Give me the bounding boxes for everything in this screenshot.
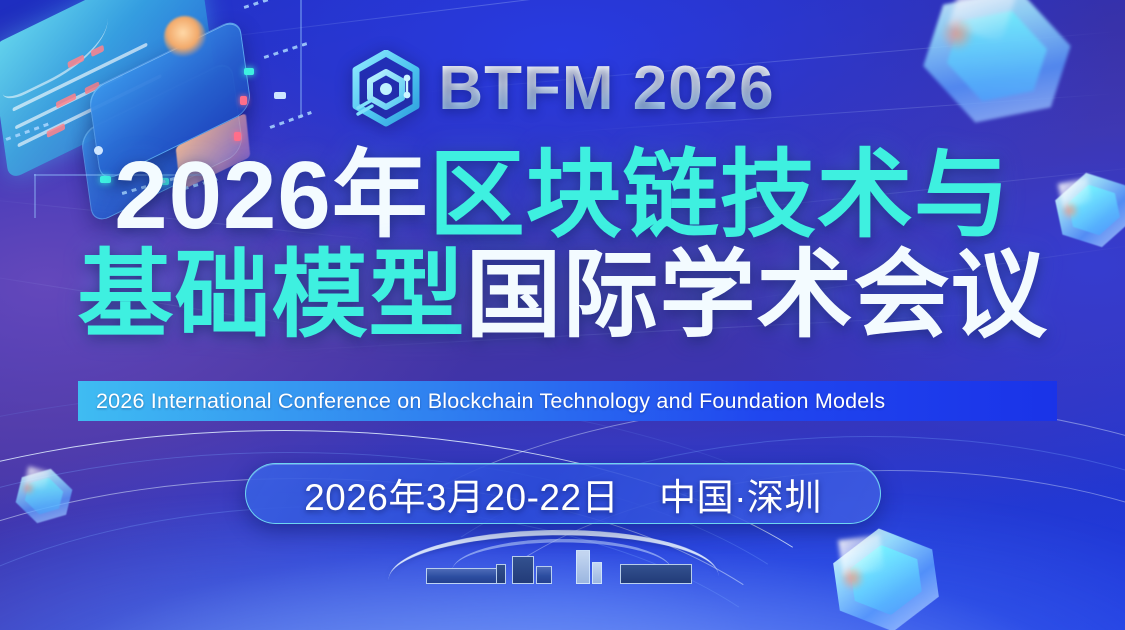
- brand-title: BTFM 2026: [438, 58, 774, 120]
- banner-content: BTFM 2026 2026年区块链技术与 基础模型国际学术会议 2026 In…: [0, 0, 1125, 630]
- main-title-line-2: 基础模型国际学术会议: [0, 248, 1125, 344]
- title-segment-conference: 国际学术会议: [466, 242, 1048, 349]
- english-subtitle-bar: 2026 International Conference on Blockch…: [78, 381, 1057, 421]
- title-segment-foundation-model: 基础模型: [78, 242, 466, 349]
- conference-banner: BTFM 2026 2026年区块链技术与 基础模型国际学术会议 2026 In…: [0, 0, 1125, 630]
- conference-location: 中国·深圳: [659, 467, 822, 521]
- title-segment-blockchain: 区块链技术与: [429, 142, 1011, 249]
- main-title-line-1: 2026年区块链技术与: [0, 148, 1125, 244]
- title-segment-year: 2026年: [114, 142, 429, 249]
- hexagon-blockchain-logo-icon: [350, 50, 422, 128]
- conference-date: 2026年3月20-22日: [304, 467, 619, 521]
- logo-row: BTFM 2026: [0, 50, 1125, 128]
- date-location-pill: 2026年3月20-22日 中国·深圳: [245, 463, 881, 524]
- english-subtitle: 2026 International Conference on Blockch…: [96, 389, 885, 414]
